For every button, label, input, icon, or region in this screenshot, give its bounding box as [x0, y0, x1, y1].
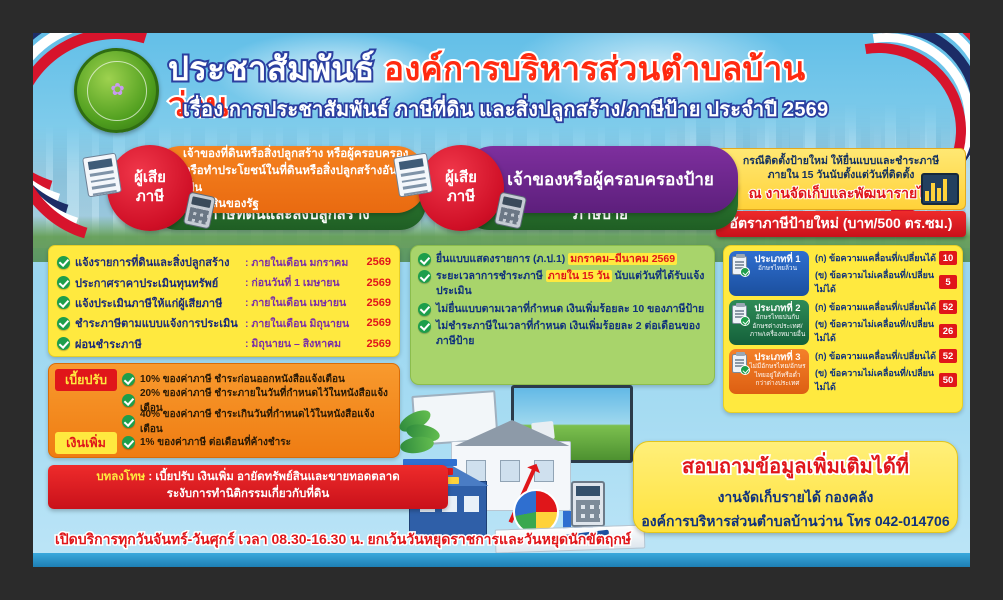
sign-type-label: ประเภทที่ 1	[749, 254, 806, 265]
rate-desc: (ก) ข้อความแคลื่อนที่/เปลี่ยนได้	[815, 300, 939, 314]
table-row: ประเภทที่ 2 อักษรไทยปนกับอักษรต่างประเทศ…	[729, 300, 957, 345]
logo-motif-icon: ✿	[110, 81, 122, 100]
schedule-date: : มิถุนายน – สิงหาคม	[245, 335, 357, 352]
schedule-date: : ภายในเดือน มกราคม	[245, 254, 357, 271]
rate-line: (ก) ข้อความแคลื่อนที่/เปลี่ยนได้ 10	[815, 251, 957, 265]
punishment-label: บทลงโทษ	[96, 471, 145, 483]
check-icon	[57, 337, 70, 350]
punishment-bar: บทลงโทษ : เบี้ยปรับ เงินเพิ่ม อายัดทรัพย…	[48, 465, 448, 509]
contact-department: งานจัดเก็บรายได้ กองคลัง	[640, 487, 951, 509]
sign-rate-rows: (ก) ข้อความแคลื่อนที่/เปลี่ยนได้ 10 (ข) …	[809, 251, 957, 296]
check-icon	[122, 394, 135, 407]
sign-rule-text: ระยะเวลาการชำระภาษี ภายใน 15 วัน นับแต่ว…	[436, 269, 707, 299]
land-taxpayer-desc-line1: เจ้าของที่ดินหรือสิ่งปลูกสร้าง หรือผู้คร…	[183, 146, 416, 163]
check-icon	[418, 303, 431, 316]
table-row: ชำระภาษีตามแบบแจ้งการประเมิน : ภายในเดือ…	[57, 313, 391, 333]
schedule-date: : ภายในเดือน เมษายน	[245, 294, 357, 311]
schedule-year: 2569	[357, 338, 391, 350]
sign-rule-text: ไม่ชำระภาษีในเวลาที่กำหนด เงินเพิ่มร้อยล…	[436, 319, 707, 349]
schedule-year: 2569	[357, 277, 391, 289]
new-sign-notice-box: กรณีติดตั้งป้ายใหม่ ให้ยื่นแบบและชำระภาษ…	[716, 148, 966, 210]
schedule-label: ชำระภาษีตามแบบแจ้งการประเมิน	[75, 314, 245, 332]
contact-organization-phone[interactable]: องค์การบริหารส่วนตำบลบ้านว่าน โทร 042-01…	[640, 511, 951, 533]
list-item: ยื่นแบบแสดงรายการ (ภ.ป.1) มกราคม–มีนาคม …	[418, 252, 707, 267]
page-title-part1: ประชาสัมพันธ์	[168, 50, 384, 87]
rate-desc: (ข) ข้อความไม่เคลื่อนที่/เปลี่ยนไม่ได้	[815, 317, 939, 345]
sign-type-sublabel: ไม่มีอักษรไทย/อักษรไทยอยู่ใต้หรือต่ำกว่า…	[749, 363, 806, 387]
sign-type-badge-2: ประเภทที่ 2 อักษรไทยปนกับอักษรต่างประเทศ…	[729, 300, 809, 345]
schedule-date: : ก่อนวันที่ 1 เมษายน	[245, 274, 357, 291]
sign-type-badge-3: ประเภทที่ 3 ไม่มีอักษรไทย/อักษรไทยอยู่ใต…	[729, 349, 809, 394]
sign-rate-table: ประเภทที่ 1 อักษรไทยล้วน (ก) ข้อความแคลื…	[723, 245, 963, 413]
page-subtitle: เรื่อง การประชาสัมพันธ์ ภาษีที่ดิน และสิ…	[183, 93, 873, 125]
fine-label: เบี้ยปรับ	[55, 369, 117, 391]
list-item: 40% ของค่าภาษี ชำระเกินวันที่กำหนดไว้ในห…	[55, 411, 393, 432]
service-hours-footer: เปิดบริการทุกวันจันทร์-วันศุกร์ เวลา 08.…	[33, 529, 653, 551]
rate-desc: (ข) ข้อความไม่เคลื่อนที่/เปลี่ยนไม่ได้	[815, 366, 939, 394]
rate-desc: (ก) ข้อความแคลื่อนที่/เปลี่ยนได้	[815, 251, 939, 265]
land-taxpayer-description: เจ้าของที่ดินหรือสิ่งปลูกสร้าง หรือผู้คร…	[183, 146, 416, 213]
sign-rate-header-bar: อัตราภาษีป้ายใหม่ (บาท/500 ตร.ซม.)	[716, 211, 966, 237]
check-icon	[418, 270, 431, 283]
schedule-year: 2569	[357, 297, 391, 309]
sign-rate-rows: (ก) ข้อความแคลื่อนที่/เปลี่ยนได้ 52 (ข) …	[809, 349, 957, 394]
rate-desc: (ก) ข้อความแคลื่อนที่/เปลี่ยนได้	[815, 349, 939, 363]
schedule-year: 2569	[357, 256, 391, 268]
document-icon	[393, 153, 433, 198]
document-icon	[82, 153, 122, 198]
rate-value: 10	[939, 251, 957, 265]
check-icon	[122, 415, 135, 428]
new-sign-notice-line1: กรณีติดตั้งป้ายใหม่ ให้ยื่นแบบและชำระภาษ…	[723, 154, 959, 168]
land-tax-schedule-box: แจ้งรายการที่ดินและสิ่งปลูกสร้าง : ภายใน…	[48, 245, 400, 357]
organization-logo: ✿	[74, 48, 159, 133]
check-icon	[57, 317, 70, 330]
rate-line: (ก) ข้อความแคลื่อนที่/เปลี่ยนได้ 52	[815, 300, 957, 314]
check-icon	[122, 436, 135, 449]
sign-type-label: ประเภทที่ 2	[749, 303, 806, 314]
list-item: ไม่ชำระภาษีในเวลาที่กำหนด เงินเพิ่มร้อยล…	[418, 319, 707, 349]
rate-line: (ข) ข้อความไม่เคลื่อนที่/เปลี่ยนไม่ได้ 5	[815, 268, 957, 296]
plant-icon	[398, 407, 450, 457]
check-icon	[57, 296, 70, 309]
table-row: ประกาศราคาประเมินทุนทรัพย์ : ก่อนวันที่ …	[57, 272, 391, 292]
check-icon	[57, 276, 70, 289]
contact-box: สอบถามข้อมูลเพิ่มเติมได้ที่ งานจัดเก็บรา…	[633, 441, 958, 533]
rate-line: (ข) ข้อความไม่เคลื่อนที่/เปลี่ยนไม่ได้ 2…	[815, 317, 957, 345]
sign-taxpayer-badge: ผู้เสีย ภาษี	[418, 145, 504, 231]
land-taxpayer-badge-line1: ผู้เสีย	[134, 169, 166, 188]
sign-tax-rules-box: ยื่นแบบแสดงรายการ (ภ.ป.1) มกราคม–มีนาคม …	[410, 245, 715, 385]
poster-canvas: ✿ ประชาสัมพันธ์ องค์การบริหารส่วนตำบลบ้า…	[33, 33, 970, 567]
schedule-date: : ภายในเดือน มิถุนายน	[245, 315, 357, 332]
sign-rate-rows: (ก) ข้อความแคลื่อนที่/เปลี่ยนได้ 52 (ข) …	[809, 300, 957, 345]
sign-rule-text: ไม่ยื่นแบบตามเวลาที่กำหนด เงินเพิ่มร้อยล…	[436, 302, 707, 317]
penalty-box: เบี้ยปรับ 10% ของค่าภาษี ชำระก่อนออกหนัง…	[48, 363, 400, 458]
chart-monitor-icon	[921, 173, 959, 205]
check-icon	[418, 320, 431, 333]
clipboard-check-icon	[732, 256, 747, 275]
table-row: ประเภทที่ 3 ไม่มีอักษรไทย/อักษรไทยอยู่ใต…	[729, 349, 957, 394]
check-icon	[418, 253, 431, 266]
sign-type-label: ประเภทที่ 3	[749, 352, 806, 363]
check-icon	[122, 373, 135, 386]
schedule-label: แจ้งประเมินภาษีให้แก่ผู้เสียภาษี	[75, 294, 245, 312]
schedule-label: แจ้งรายการที่ดินและสิ่งปลูกสร้าง	[75, 253, 245, 271]
schedule-year: 2569	[357, 317, 391, 329]
table-row: แจ้งรายการที่ดินและสิ่งปลูกสร้าง : ภายใน…	[57, 252, 391, 272]
list-item: ระยะเวลาการชำระภาษี ภายใน 15 วัน นับแต่ว…	[418, 269, 707, 299]
sign-type-badge-1: ประเภทที่ 1 อักษรไทยล้วน	[729, 251, 809, 296]
rate-value: 50	[939, 373, 957, 387]
sign-taxpayer-badge-line2: ภาษี	[447, 188, 475, 207]
rate-line: (ข) ข้อความไม่เคลื่อนที่/เปลี่ยนไม่ได้ 5…	[815, 366, 957, 394]
sign-type-sublabel: อักษรไทยปนกับอักษรต่างประเทศ/ภาพ/เครื่อง…	[749, 314, 806, 338]
sign-rule-highlight: ภายใน 15 วัน	[546, 270, 612, 282]
contact-heading: สอบถามข้อมูลเพิ่มเติมได้ที่	[640, 450, 951, 482]
surcharge-label: เงินเพิ่ม	[55, 432, 117, 454]
list-item: ไม่ยื่นแบบตามเวลาที่กำหนด เงินเพิ่มร้อยล…	[418, 302, 707, 317]
sign-taxpayer-description: เจ้าของหรือผู้ครอบครองป้าย	[507, 166, 714, 193]
clipboard-check-icon	[732, 305, 747, 324]
table-row: ผ่อนชำระภาษี : มิถุนายน – สิงหาคม 2569	[57, 334, 391, 354]
sign-type-sublabel: อักษรไทยล้วน	[749, 265, 806, 273]
bottom-bar	[33, 553, 970, 567]
land-taxpayer-desc-line3: ทรัพย์สินของรัฐ	[183, 196, 416, 213]
punishment-line1: บทลงโทษ : เบี้ยปรับ เงินเพิ่ม อายัดทรัพย…	[56, 469, 440, 486]
sign-taxpayer-badge-line1: ผู้เสีย	[445, 169, 477, 188]
rate-value: 26	[939, 324, 957, 338]
rate-value: 52	[939, 300, 957, 314]
logo-inner-ring: ✿	[87, 61, 147, 121]
schedule-label: ประกาศราคาประเมินทุนทรัพย์	[75, 274, 245, 292]
land-taxpayer-badge: ผู้เสีย ภาษี	[107, 145, 193, 231]
punishment-line2: ระงับการทำนิติกรรมเกี่ยวกับที่ดิน	[56, 486, 440, 503]
surcharge-item-text: 1% ของค่าภาษี ต่อเดือนที่ค้างชำระ	[140, 435, 291, 450]
land-taxpayer-badge-line2: ภาษี	[136, 188, 164, 207]
rate-value: 5	[939, 275, 957, 289]
calculator-icon	[571, 481, 605, 527]
table-row: แจ้งประเมินภาษีให้แก่ผู้เสียภาษี : ภายใน…	[57, 293, 391, 313]
sign-rule-highlight: มกราคม–มีนาคม 2569	[568, 253, 677, 265]
rate-value: 52	[939, 349, 957, 363]
rate-line: (ก) ข้อความแคลื่อนที่/เปลี่ยนได้ 52	[815, 349, 957, 363]
schedule-label: ผ่อนชำระภาษี	[75, 335, 245, 353]
clipboard-check-icon	[732, 354, 747, 373]
land-taxpayer-desc-line2: หรือทำประโยชน์ในที่ดินหรือสิ่งปลูกสร้างอ…	[183, 163, 416, 196]
sign-rule-text: ยื่นแบบแสดงรายการ (ภ.ป.1) มกราคม–มีนาคม …	[436, 252, 707, 267]
fine-item-text: 40% ของค่าภาษี ชำระเกินวันที่กำหนดไว้ในห…	[140, 407, 393, 437]
rate-desc: (ข) ข้อความไม่เคลื่อนที่/เปลี่ยนไม่ได้	[815, 268, 939, 296]
table-row: ประเภทที่ 1 อักษรไทยล้วน (ก) ข้อความแคลื…	[729, 251, 957, 296]
check-icon	[57, 256, 70, 269]
